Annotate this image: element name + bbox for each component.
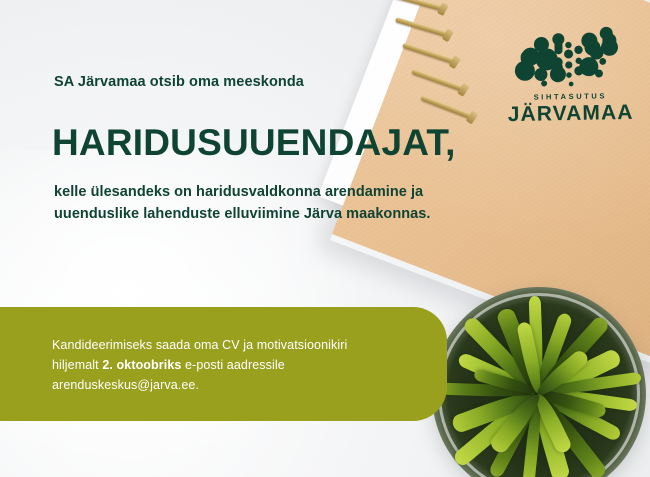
contact-deadline-suffix: e-posti aadressile [181,358,284,372]
job-description-text: kelle ülesandeks on haridusvaldkonna are… [54,181,484,225]
spiral-wire [411,69,465,92]
spiral-wire [420,95,474,120]
spiral-wire [395,17,450,38]
job-advertisement-poster: SA Järvamaa otsib oma meeskonda HARIDUSU… [0,0,650,477]
kicker-text: SA Järvamaa otsib oma meeskonda [54,74,304,90]
contact-email: arenduskeskus@jarva.ee. [52,378,199,392]
contact-line-1: Kandideerimiseks saada oma CV ja motivat… [52,338,347,352]
logo-blob-mark [510,25,629,93]
contact-deadline-prefix: hiljemalt [52,358,102,372]
contact-deadline-date: 2. oktoobriks [102,358,181,372]
spiral-wire [390,0,445,11]
page-title: HARIDUSUUENDAJAT, [52,122,456,164]
spiral-wire [402,43,457,65]
logo-name: JÄRVAMAA [505,101,635,127]
jarvamaa-logo: SIHTASUTUS JÄRVAMAA [504,25,636,129]
contact-instructions: Kandideerimiseks saada oma CV ja motivat… [52,335,432,395]
